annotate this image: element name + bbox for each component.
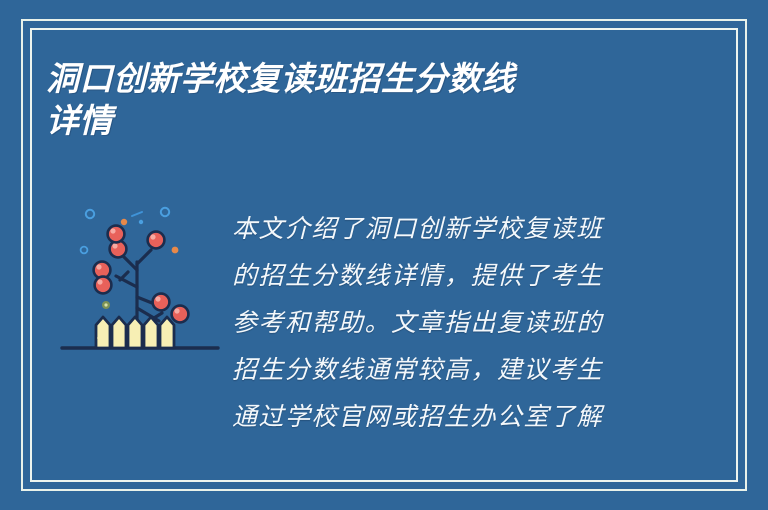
poster-summary: 本文介绍了洞口创新学校复读班 的招生分数线详情，提供了考生 参考和帮助。文章指出… (232, 206, 644, 441)
poster-summary-line-3: 参考和帮助。文章指出复读班的 (232, 300, 644, 347)
poster-title-line-2: 详情 (46, 100, 646, 142)
poster-summary-line-2: 的招生分数线详情，提供了考生 (232, 253, 644, 300)
poster-canvas: 洞口创新学校复读班招生分数线 详情 插图：栅栏后的结果小树 (0, 0, 768, 510)
poster-summary-line-1: 本文介绍了洞口创新学校复读班 (232, 206, 644, 253)
poster-summary-line-5: 通过学校官网或招生办公室了解 (232, 394, 644, 441)
picket-fence (96, 317, 174, 348)
poster-summary-line-4: 招生分数线通常较高，建议考生 (232, 347, 644, 394)
poster-title-line-1: 洞口创新学校复读班招生分数线 (46, 58, 646, 100)
berry-tree-behind-fence-icon: 插图：栅栏后的结果小树 (58, 192, 222, 362)
poster-title: 洞口创新学校复读班招生分数线 详情 (46, 58, 646, 142)
